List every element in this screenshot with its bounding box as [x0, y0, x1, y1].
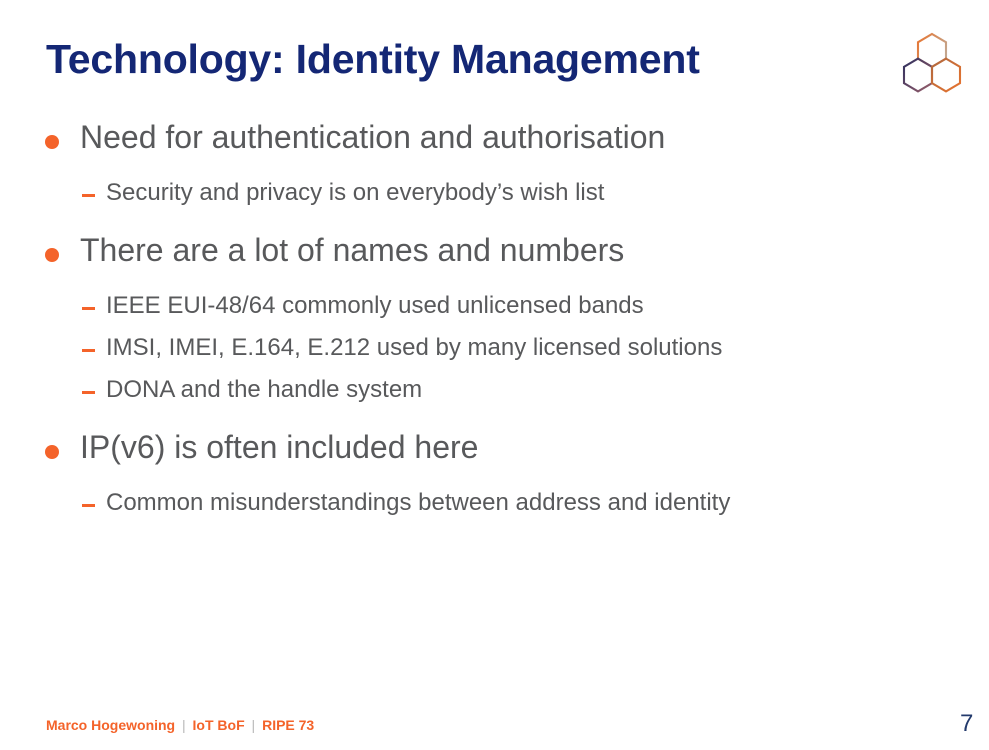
bullet-level2-text: IMSI, IMEI, E.164, E.212 used by many li…	[106, 334, 722, 361]
bullet-level1: There are a lot of names and numbers	[0, 232, 989, 272]
ripe-ncc-hexagon-logo	[898, 30, 966, 96]
bullet-level2-text: DONA and the handle system	[106, 376, 422, 403]
bullet-level1: IP(v6) is often included here	[0, 429, 989, 469]
bullet-level2: Security and privacy is on everybody’s w…	[0, 179, 989, 210]
footer-presenter: Marco Hogewoning	[46, 717, 175, 733]
bullet-level2: Common misunderstandings between address…	[0, 489, 989, 520]
bullet-level2: IMSI, IMEI, E.164, E.212 used by many li…	[0, 334, 989, 365]
bullet-level1-text: There are a lot of names and numbers	[80, 232, 624, 268]
bullet-list: Need for authentication and authorisatio…	[0, 119, 989, 531]
page-number: 7	[960, 710, 973, 738]
footer-separator: |	[179, 717, 189, 733]
bullet-dot-icon	[45, 248, 59, 262]
page-title: Technology: Identity Management	[46, 36, 700, 83]
slide: Technology: Identity Management	[0, 0, 989, 750]
bullet-dash-icon	[82, 194, 95, 197]
bullet-level2-text: IEEE EUI-48/64 commonly used unlicensed …	[106, 292, 644, 319]
footer-event: RIPE 73	[262, 717, 314, 733]
bullet-dash-icon	[82, 504, 95, 507]
bullet-level1: Need for authentication and authorisatio…	[0, 119, 989, 159]
bullet-level2-text: Security and privacy is on everybody’s w…	[106, 179, 604, 206]
bullet-dot-icon	[45, 445, 59, 459]
slide-footer: Marco Hogewoning | IoT BoF | RIPE 73	[46, 717, 314, 733]
bullet-dash-icon	[82, 391, 95, 394]
footer-separator: |	[249, 717, 259, 733]
bullet-level1-text: IP(v6) is often included here	[80, 429, 478, 465]
bullet-dash-icon	[82, 307, 95, 310]
bullet-level2: DONA and the handle system	[0, 376, 989, 407]
bullet-level2-text: Common misunderstandings between address…	[106, 489, 730, 516]
bullet-dash-icon	[82, 349, 95, 352]
footer-session: IoT BoF	[193, 717, 245, 733]
bullet-level1-text: Need for authentication and authorisatio…	[80, 119, 665, 155]
bullet-level2: IEEE EUI-48/64 commonly used unlicensed …	[0, 292, 989, 323]
bullet-dot-icon	[45, 135, 59, 149]
